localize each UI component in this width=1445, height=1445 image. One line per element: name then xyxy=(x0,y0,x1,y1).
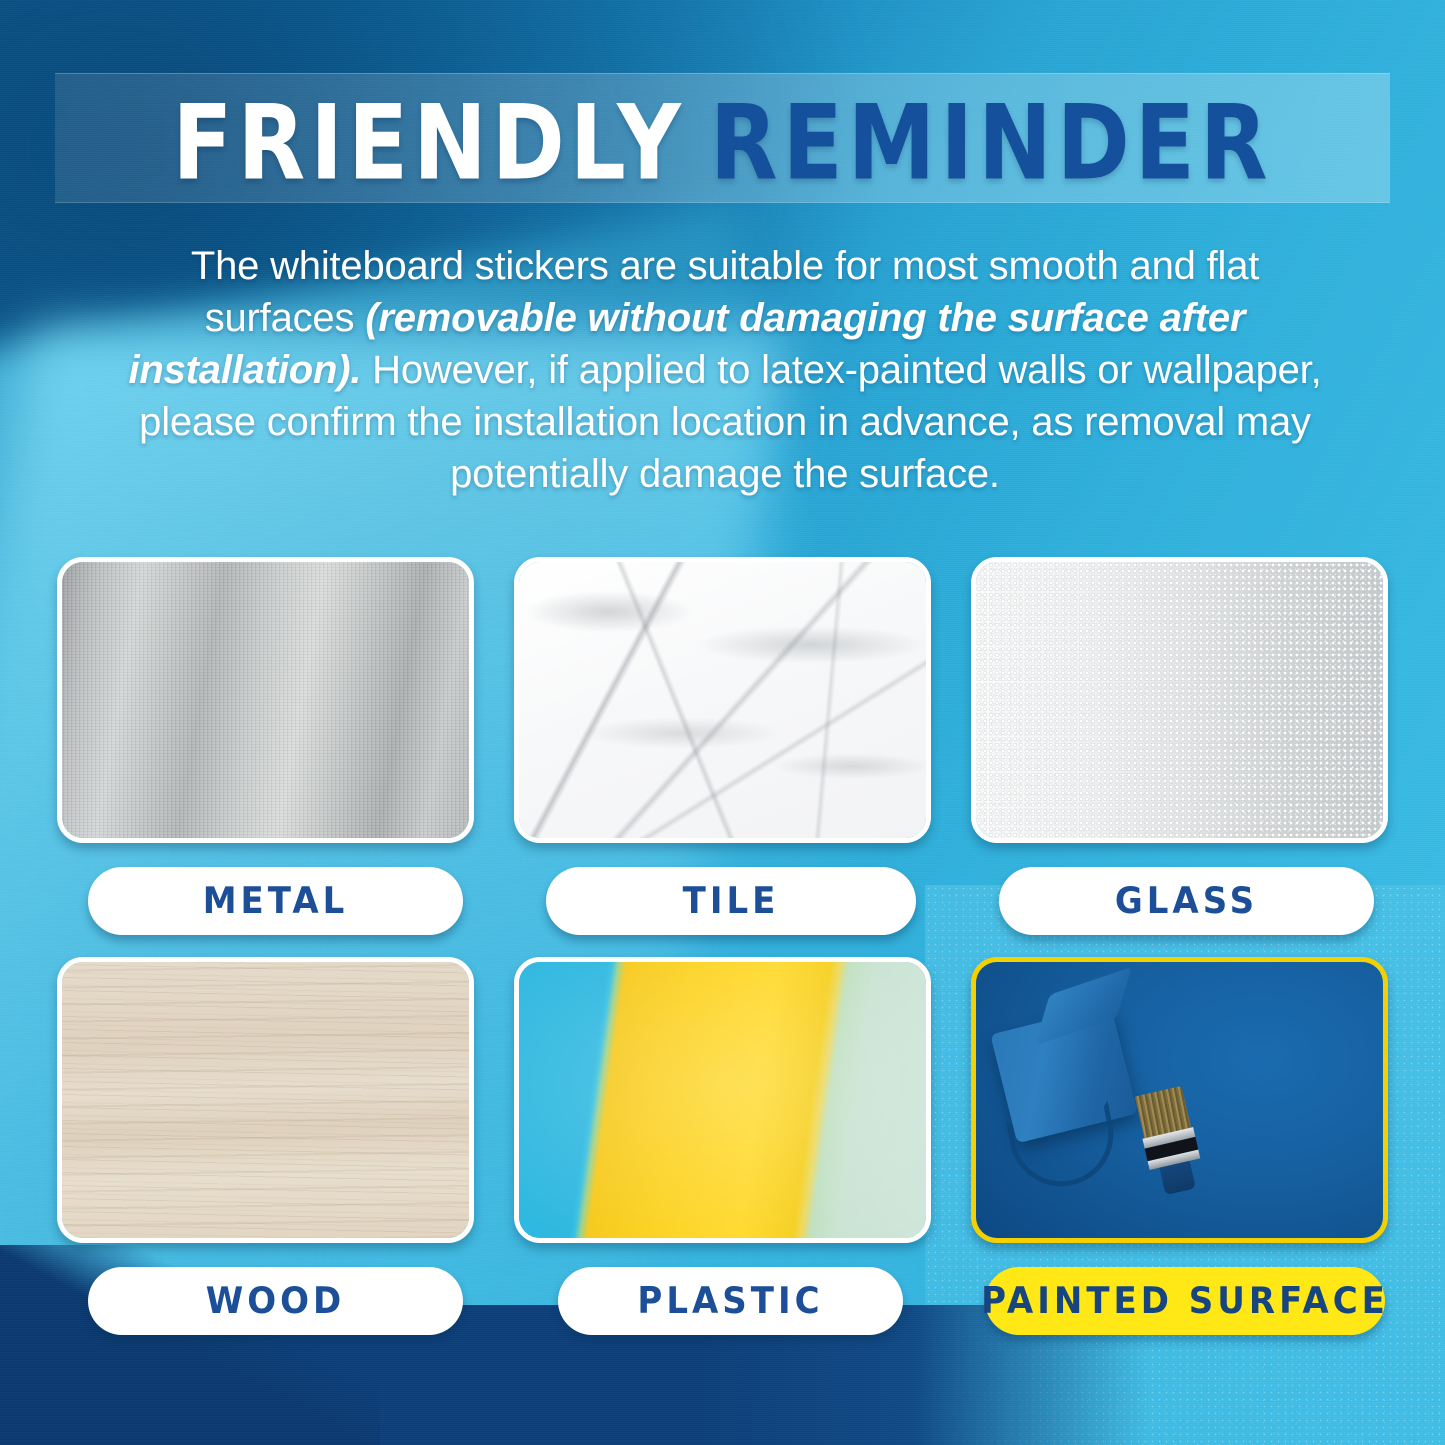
surface-label-wood-text: WOOD xyxy=(206,1279,346,1322)
surface-label-plastic: PLASTIC xyxy=(558,1267,903,1335)
surface-label-glass-text: GLASS xyxy=(1115,879,1258,922)
frosted-glass-swatch xyxy=(971,557,1388,843)
page-title-word-friendly: FRIENDLY xyxy=(172,91,686,195)
wood-texture xyxy=(62,962,469,1238)
metal-texture xyxy=(62,562,469,838)
surface-label-glass: GLASS xyxy=(999,867,1374,935)
surface-cell-painted-surface: PAINTED SURFACE xyxy=(971,957,1388,1335)
surface-grid: METAL TILE GLASS xyxy=(57,557,1388,1335)
glass-texture xyxy=(976,562,1383,838)
surface-label-wood: WOOD xyxy=(88,1267,463,1335)
marble-tile-swatch xyxy=(514,557,931,843)
paintbrush-icon xyxy=(1133,1085,1203,1182)
surface-label-metal: METAL xyxy=(88,867,463,935)
surface-label-painted-surface: PAINTED SURFACE xyxy=(985,1267,1385,1335)
surface-label-metal-text: METAL xyxy=(203,879,349,922)
body-paragraph: The whiteboard stickers are suitable for… xyxy=(120,240,1330,500)
wood-grain-swatch xyxy=(57,957,474,1243)
surface-cell-wood: WOOD xyxy=(57,957,474,1335)
surface-cell-plastic: PLASTIC xyxy=(514,957,931,1335)
surface-label-painted-surface-text: PAINTED SURFACE xyxy=(981,1279,1389,1322)
tile-texture xyxy=(519,562,926,838)
brushed-metal-swatch xyxy=(57,557,474,843)
painted-surface-swatch xyxy=(971,957,1388,1243)
surface-label-tile-text: TILE xyxy=(683,879,780,922)
page-title-word-reminder: REMINDER xyxy=(710,91,1273,195)
painted-wall-texture xyxy=(976,962,1383,1238)
plastic-texture xyxy=(519,962,926,1238)
surface-cell-metal: METAL xyxy=(57,557,474,935)
surface-cell-glass: GLASS xyxy=(971,557,1388,935)
paintbrush-handle xyxy=(1159,1161,1196,1195)
surface-cell-tile: TILE xyxy=(514,557,931,935)
surface-label-plastic-text: PLASTIC xyxy=(637,1279,823,1322)
plastic-panel-swatch xyxy=(514,957,931,1243)
page-title: FRIENDLY REMINDER xyxy=(0,78,1445,208)
friendly-reminder-poster: FRIENDLY REMINDER The whiteboard sticker… xyxy=(0,0,1445,1445)
surface-label-tile: TILE xyxy=(546,867,916,935)
